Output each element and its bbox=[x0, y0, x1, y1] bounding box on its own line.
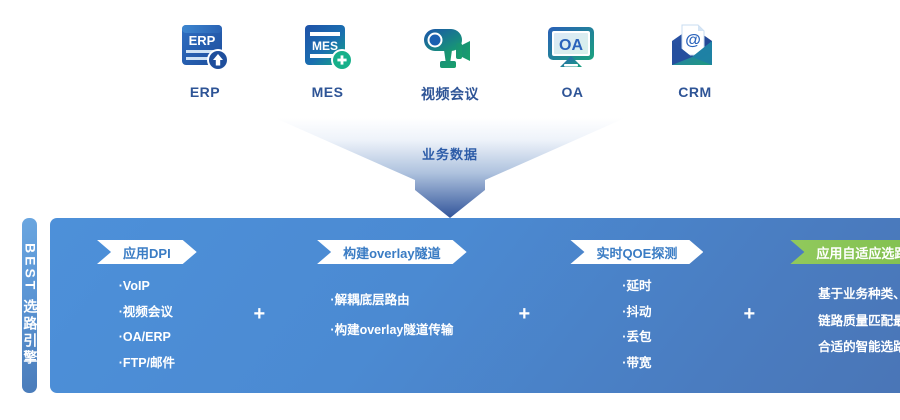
app-label: CRM bbox=[678, 84, 711, 100]
app-item-oa[interactable]: OA OA bbox=[523, 18, 623, 100]
list-item: ·视频会议 bbox=[119, 306, 175, 319]
pipeline-column-overlay-tunnel: 构建overlay隧道 ·解耦底层路由 ·构建overlay隧道传输 bbox=[279, 218, 504, 393]
app-item-crm[interactable]: @ CRM bbox=[645, 18, 745, 100]
list-item: ·FTP/邮件 bbox=[119, 357, 175, 370]
list-item: ·解耦底层路由 bbox=[330, 294, 453, 307]
svg-text:MES: MES bbox=[311, 39, 337, 53]
list-item: ·OA/ERP bbox=[119, 331, 175, 344]
best-engine-panel: BEST 选路引擎 bbox=[22, 218, 37, 393]
svg-text:ERP: ERP bbox=[189, 33, 216, 48]
best-routing-section: BEST 选路引擎 应用DPI ·VoIP ·视频会议 ·OA/ERP ·FTP… bbox=[22, 218, 878, 393]
app-item-video-conference[interactable]: 视频会议 bbox=[400, 18, 500, 104]
mes-icon: MES bbox=[299, 18, 357, 76]
column-item-list: ·延时 ·抖动 ·丢包 ·带宽 bbox=[622, 280, 651, 382]
oa-icon: OA bbox=[542, 18, 604, 76]
app-label: OA bbox=[562, 84, 584, 100]
list-item: ·延时 bbox=[622, 280, 651, 293]
column-title-banner[interactable]: 构建overlay隧道 bbox=[317, 240, 467, 264]
pipeline-column-adaptive-routing: 应用自适应选路 基于业务种类、 链路质量匹配最 合适的智能选路 bbox=[769, 218, 900, 393]
column-title-banner[interactable]: 实时QOE探测 bbox=[570, 240, 703, 264]
application-icon-row: ERP ERP bbox=[155, 18, 745, 113]
pipeline-column-qoe: 实时QOE探测 ·延时 ·抖动 ·丢包 ·带宽 bbox=[544, 218, 729, 393]
app-label: 视频会议 bbox=[421, 84, 479, 104]
column-title: 应用DPI bbox=[123, 243, 171, 262]
column-item-list: ·VoIP ·视频会议 ·OA/ERP ·FTP/邮件 bbox=[119, 280, 175, 382]
business-data-flow-arrow: 业务数据 bbox=[275, 118, 625, 218]
list-item: ·丢包 bbox=[622, 331, 651, 344]
arrow-label: 业务数据 bbox=[275, 144, 625, 163]
video-conference-icon bbox=[418, 18, 482, 76]
plus-separator-1: + bbox=[239, 218, 279, 393]
best-engine-label: BEST 选路引擎 bbox=[22, 243, 37, 367]
column-title: 应用自适应选路 bbox=[816, 243, 900, 262]
svg-text:@: @ bbox=[685, 32, 701, 49]
app-item-mes[interactable]: MES MES bbox=[278, 18, 378, 100]
column-paragraph: 基于业务种类、 链路质量匹配最 合适的智能选路 bbox=[818, 288, 900, 368]
column-title-banner[interactable]: 应用DPI bbox=[97, 240, 197, 264]
list-item: ·构建overlay隧道传输 bbox=[330, 324, 453, 337]
plus-separator-2: + bbox=[504, 218, 544, 393]
plus-separator-3: + bbox=[729, 218, 769, 393]
pipeline-panel: 应用DPI ·VoIP ·视频会议 ·OA/ERP ·FTP/邮件 + 构建ov… bbox=[50, 218, 900, 393]
column-title: 构建overlay隧道 bbox=[343, 243, 441, 262]
column-title-banner[interactable]: 应用自适应选路 bbox=[790, 240, 900, 264]
list-item: ·带宽 bbox=[622, 357, 651, 370]
paragraph-line: 链路质量匹配最 bbox=[818, 315, 900, 328]
list-item: ·VoIP bbox=[119, 280, 175, 293]
paragraph-line: 合适的智能选路 bbox=[818, 341, 900, 354]
column-item-list: ·解耦底层路由 ·构建overlay隧道传输 bbox=[330, 294, 453, 353]
crm-icon: @ bbox=[666, 18, 724, 76]
pipeline-column-app-dpi: 应用DPI ·VoIP ·视频会议 ·OA/ERP ·FTP/邮件 bbox=[54, 218, 239, 393]
paragraph-line: 基于业务种类、 bbox=[818, 288, 900, 301]
column-title: 实时QOE探测 bbox=[596, 243, 677, 262]
app-label: MES bbox=[312, 84, 344, 100]
list-item: ·抖动 bbox=[622, 306, 651, 319]
infographic-root: ERP ERP bbox=[0, 0, 900, 420]
erp-icon: ERP bbox=[176, 18, 234, 76]
svg-text:OA: OA bbox=[559, 37, 583, 54]
funnel-down-arrow-icon bbox=[275, 118, 625, 218]
app-label: ERP bbox=[190, 84, 220, 100]
app-item-erp[interactable]: ERP ERP bbox=[155, 18, 255, 100]
